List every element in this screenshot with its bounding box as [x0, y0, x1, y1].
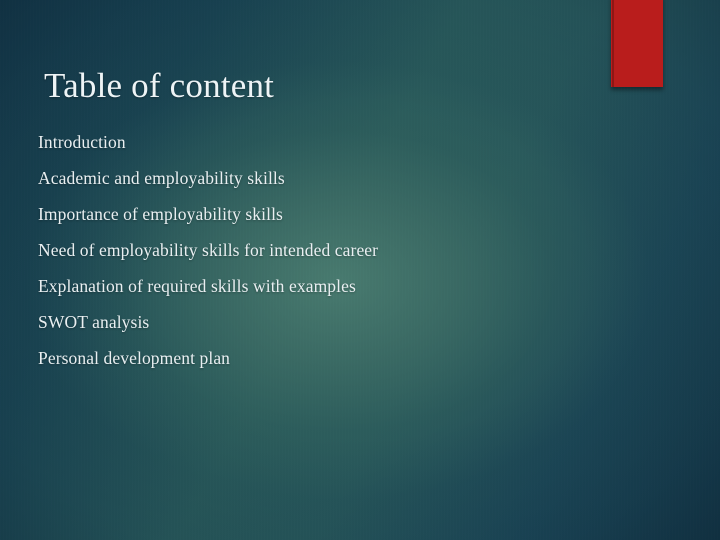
list-item: Personal development plan	[38, 340, 658, 376]
list-item: Introduction	[38, 124, 658, 160]
list-item: SWOT analysis	[38, 304, 658, 340]
presentation-slide: Table of content Introduction Academic a…	[0, 0, 720, 540]
list-item: Importance of employability skills	[38, 196, 658, 232]
list-item: Need of employability skills for intende…	[38, 232, 658, 268]
list-item: Academic and employability skills	[38, 160, 658, 196]
table-of-contents-list: Introduction Academic and employability …	[38, 124, 658, 376]
slide-title: Table of content	[44, 65, 644, 106]
list-item: Explanation of required skills with exam…	[38, 268, 658, 304]
